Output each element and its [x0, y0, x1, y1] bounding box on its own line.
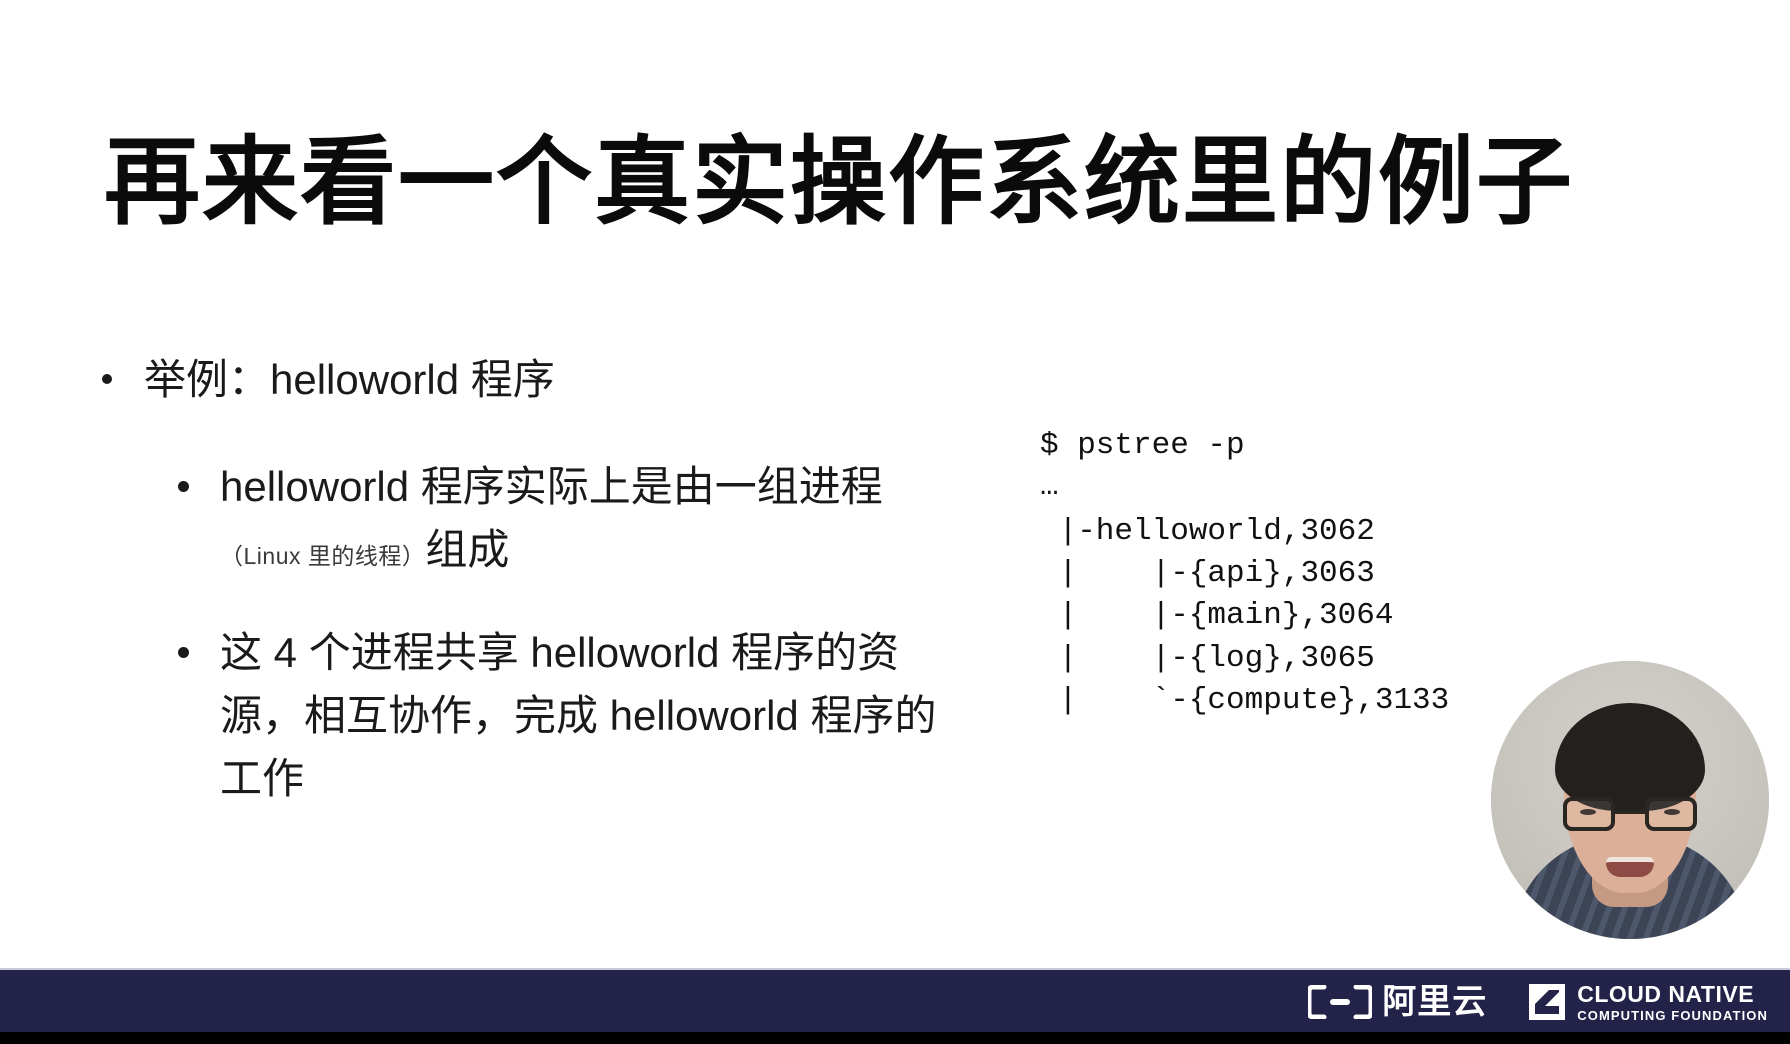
- cncf-line1: CLOUD NATIVE: [1577, 983, 1768, 1006]
- terminal-ellipsis: …: [1040, 473, 1449, 501]
- slide-body-content: 举例：helloworld 程序 helloworld 程序实际上是由一组进程 …: [92, 352, 952, 810]
- cncf-mark-icon: [1527, 982, 1567, 1022]
- aliyun-logo: 阿里云: [1308, 985, 1487, 1019]
- bullet-item-level1: 举例：helloworld 程序: [92, 352, 952, 407]
- cncf-logo: CLOUD NATIVE COMPUTING FOUNDATION: [1527, 982, 1768, 1022]
- footer-bar: 阿里云 CLOUD NATIVE COMPUTING FOUNDATION: [0, 968, 1790, 1034]
- webcam-background: [1491, 661, 1769, 939]
- footer-logo-group: 阿里云 CLOUD NATIVE COMPUTING FOUNDATION: [1308, 970, 1768, 1034]
- presentation-slide: 再来看一个真实操作系统里的例子 举例：helloworld 程序 hellowo…: [0, 0, 1790, 1044]
- glasses-lens-left: [1563, 797, 1615, 831]
- glasses-lens-right: [1645, 797, 1697, 831]
- terminal-tree-line: | |-{log},3065: [1040, 641, 1375, 676]
- presenter-mouth: [1606, 857, 1654, 877]
- cncf-logo-text: CLOUD NATIVE COMPUTING FOUNDATION: [1577, 983, 1768, 1022]
- terminal-output-block: $ pstree -p… |-helloworld,3062 | |-{api}…: [1040, 425, 1449, 722]
- bullet-item-level2-sharing: 这 4 个进程共享 helloworld 程序的资源，相互协作，完成 hello…: [172, 621, 952, 810]
- terminal-tree-line: | `-{compute},3133: [1040, 683, 1449, 718]
- bullet-dot-icon: [178, 647, 189, 658]
- terminal-tree-line: | |-{api},3063: [1040, 556, 1375, 591]
- footer-bottom-strip: [0, 1032, 1790, 1044]
- bullet-label: 这 4 个进程共享 helloworld 程序的资源，相互协作，完成 hello…: [220, 629, 936, 802]
- bullet-label: 举例：helloworld 程序: [144, 356, 555, 403]
- presenter-hair: [1555, 703, 1705, 811]
- glasses-icon: [1563, 797, 1697, 833]
- cncf-line2: COMPUTING FOUNDATION: [1577, 1009, 1768, 1022]
- presenter-video-bubble: [1491, 661, 1769, 939]
- terminal-tree-line: |-helloworld,3062: [1040, 514, 1375, 549]
- aliyun-bracket-icon: [1308, 985, 1372, 1019]
- terminal-prompt-line: $ pstree -p: [1040, 428, 1245, 463]
- bullet-note-parenthetical: （Linux 里的线程）: [220, 543, 425, 569]
- bullet-item-level2-threads: helloworld 程序实际上是由一组进程 （Linux 里的线程）组成: [172, 455, 952, 581]
- sub-bullet-list: helloworld 程序实际上是由一组进程 （Linux 里的线程）组成 这 …: [92, 455, 952, 810]
- bullet-label-line2: 组成: [425, 526, 509, 573]
- aliyun-logo-text: 阿里云: [1382, 985, 1487, 1019]
- bullet-dot-icon: [178, 481, 189, 492]
- glasses-bridge: [1615, 810, 1645, 814]
- terminal-tree-line: | |-{main},3064: [1040, 598, 1393, 633]
- bullet-dot-icon: [102, 374, 112, 384]
- page-title: 再来看一个真实操作系统里的例子: [104, 126, 1524, 239]
- bullet-label-line1: helloworld 程序实际上是由一组进程: [220, 463, 883, 510]
